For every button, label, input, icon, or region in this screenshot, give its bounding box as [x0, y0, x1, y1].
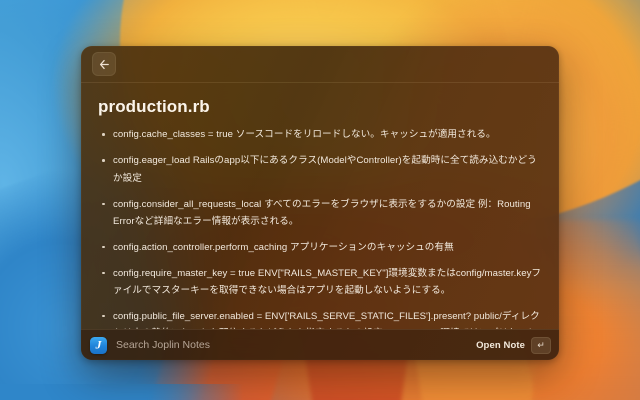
list-item: config.action_controller.perform_caching…	[98, 239, 545, 256]
search-input[interactable]	[116, 339, 466, 351]
joplin-quick-search-panel: production.rb config.cache_classes = tru…	[81, 46, 559, 360]
search-bar: J Open Note ↵	[81, 329, 559, 360]
list-item: config.eager_load Railsのapp以下にあるクラス(Mode…	[98, 152, 545, 186]
list-item: config.consider_all_requests_local すべてのエ…	[98, 196, 545, 230]
joplin-icon-glyph: J	[96, 339, 102, 351]
note-preview-body[interactable]: production.rb config.cache_classes = tru…	[81, 83, 559, 329]
return-key-icon: ↵	[537, 341, 545, 350]
desktop: production.rb config.cache_classes = tru…	[0, 0, 640, 400]
joplin-app-icon: J	[90, 337, 107, 354]
panel-header	[81, 46, 559, 83]
page-title: production.rb	[98, 97, 545, 117]
note-bullet-list: config.cache_classes = true ソースコードをリロードし…	[98, 126, 545, 329]
return-key-button[interactable]: ↵	[531, 337, 551, 354]
arrow-left-icon	[99, 59, 110, 70]
list-item: config.require_master_key = true ENV["RA…	[98, 265, 545, 299]
list-item: config.cache_classes = true ソースコードをリロードし…	[98, 126, 545, 143]
open-note-button[interactable]: Open Note	[476, 340, 525, 351]
wallpaper-blue-strip	[0, 384, 640, 400]
list-item: config.public_file_server.enabled = ENV[…	[98, 308, 545, 329]
back-button[interactable]	[92, 52, 116, 76]
footer-actions: Open Note ↵	[476, 337, 551, 354]
